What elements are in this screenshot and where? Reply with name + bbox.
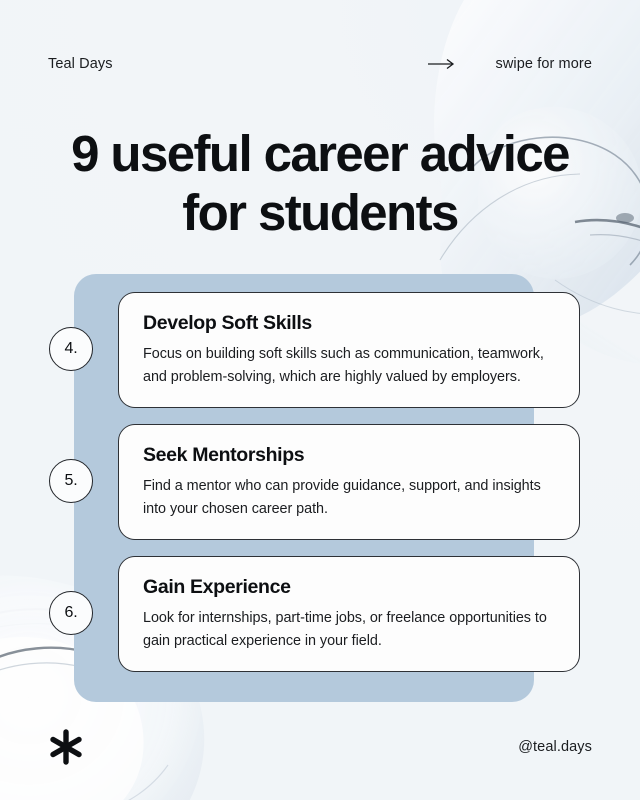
slide-canvas: Teal Days swipe for more 9 useful career… xyxy=(0,0,640,800)
slide-footer: @teal.days xyxy=(48,726,592,768)
tip-card[interactable]: 5. Seek Mentorships Find a mentor who ca… xyxy=(118,424,580,540)
tip-card[interactable]: 6. Gain Experience Look for internships,… xyxy=(118,556,580,672)
page-title: 9 useful career advice for students xyxy=(40,124,600,242)
tip-body: Find a mentor who can provide guidance, … xyxy=(143,475,555,521)
tip-number-badge: 4. xyxy=(49,327,93,371)
social-handle: @teal.days xyxy=(518,739,592,755)
tip-body: Focus on building soft skills such as co… xyxy=(143,343,555,389)
asterisk-icon xyxy=(48,729,84,765)
tip-number-badge: 6. xyxy=(49,591,93,635)
swipe-hint: swipe for more xyxy=(428,56,593,72)
tip-card-list: 4. Develop Soft Skills Focus on building… xyxy=(118,292,580,672)
tip-number-badge: 5. xyxy=(49,459,93,503)
brand-name: Teal Days xyxy=(48,56,113,72)
tip-card[interactable]: 4. Develop Soft Skills Focus on building… xyxy=(118,292,580,408)
swipe-label: swipe for more xyxy=(496,56,593,72)
tip-title: Seek Mentorships xyxy=(143,444,555,467)
slide-header: Teal Days swipe for more xyxy=(48,52,592,76)
tip-title: Gain Experience xyxy=(143,576,555,599)
tip-body: Look for internships, part-time jobs, or… xyxy=(143,607,555,653)
tip-title: Develop Soft Skills xyxy=(143,312,555,335)
arrow-right-icon xyxy=(428,58,456,70)
